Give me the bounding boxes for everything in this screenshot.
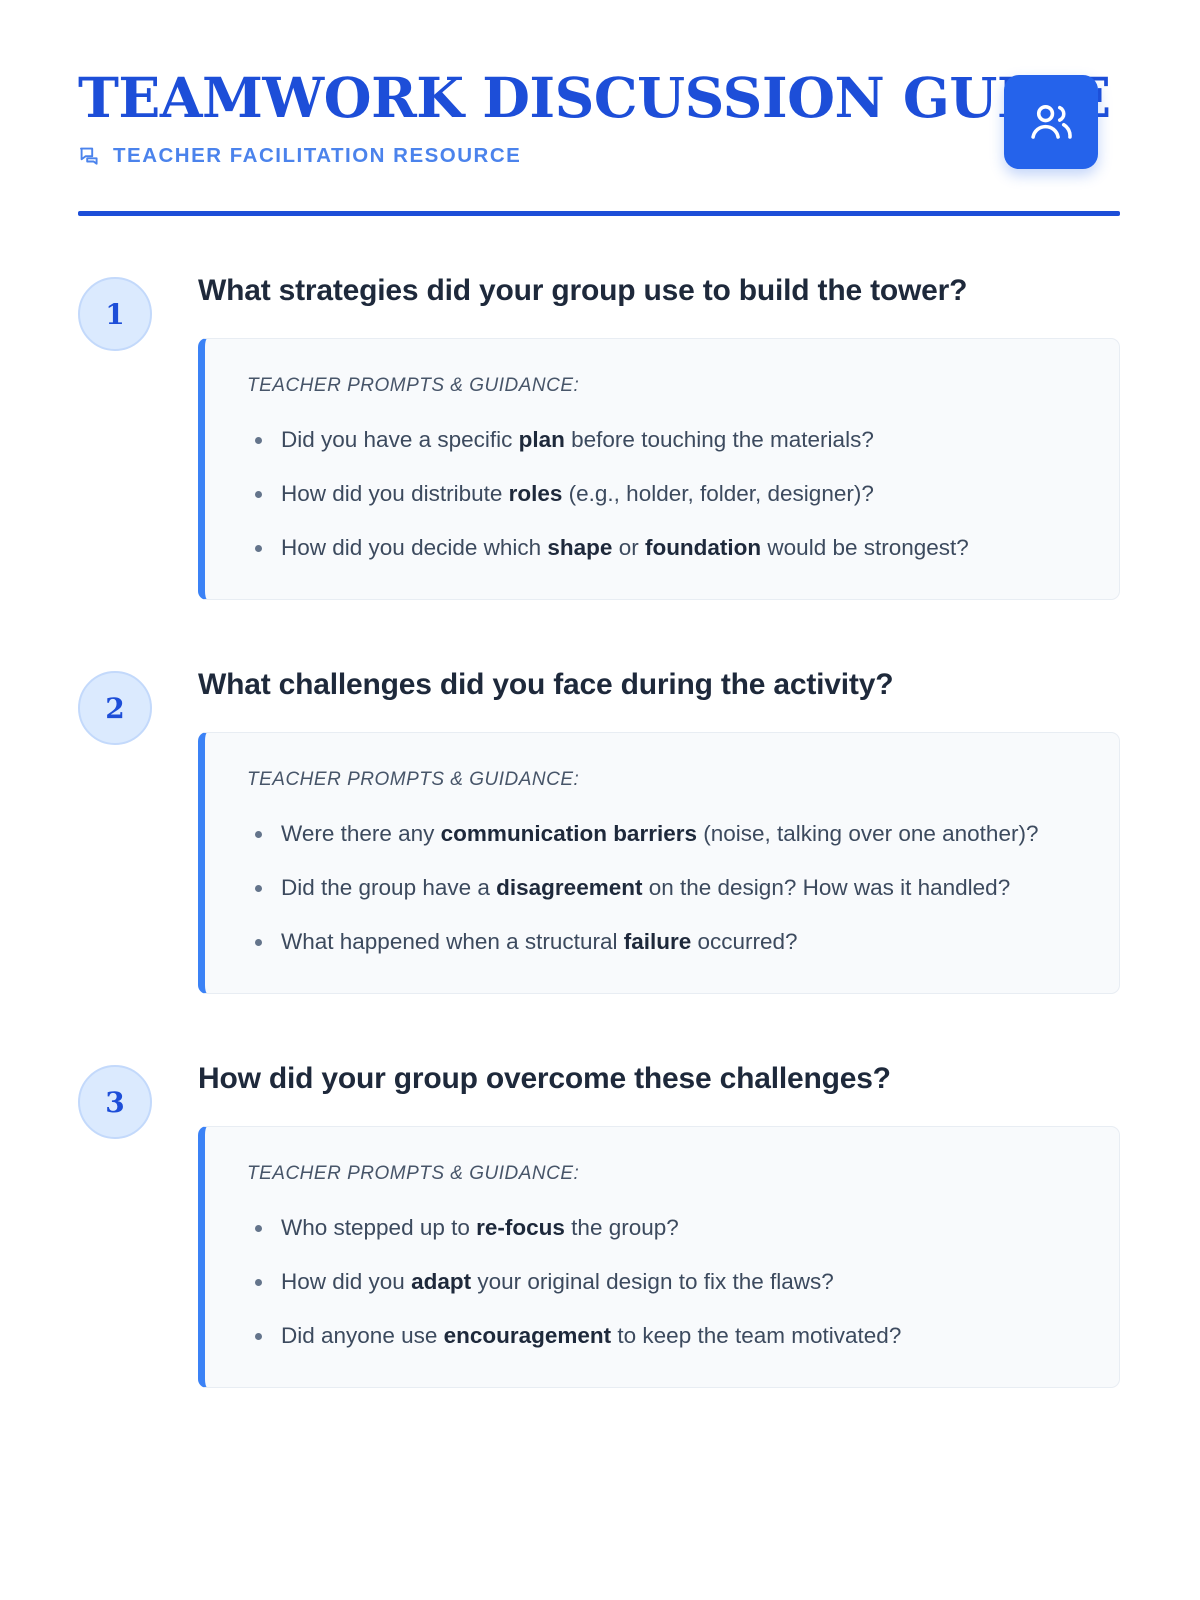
teacher-prompt-box: TEACHER PROMPTS & GUIDANCE: Who stepped … <box>198 1126 1120 1389</box>
page-header: TEAMWORK DISCUSSION GUIDE TEACHER FACILI… <box>0 0 1200 169</box>
prompt-bullet-list: Did you have a specific plan before touc… <box>247 423 1079 566</box>
teacher-prompt-box: TEACHER PROMPTS & GUIDANCE: Were there a… <box>198 732 1120 995</box>
discussion-guide-page: TEAMWORK DISCUSSION GUIDE TEACHER FACILI… <box>0 0 1200 1600</box>
teacher-prompt-box: TEACHER PROMPTS & GUIDANCE: Did you have… <box>198 338 1120 601</box>
prompt-item: How did you adapt your original design t… <box>247 1265 1079 1299</box>
page-title: TEAMWORK DISCUSSION GUIDE <box>78 70 1004 126</box>
prompt-item: Did the group have a disagreement on the… <box>247 871 1079 905</box>
subtitle-row: TEACHER FACILITATION RESOURCE <box>78 144 1004 168</box>
question-title: How did your group overcome these challe… <box>198 1060 1120 1098</box>
prompt-box-label: TEACHER PROMPTS & GUIDANCE: <box>247 1163 1079 1185</box>
question-body: How did your group overcome these challe… <box>198 1060 1120 1388</box>
prompt-box-label: TEACHER PROMPTS & GUIDANCE: <box>247 769 1079 791</box>
prompt-item: Were there any communication barriers (n… <box>247 817 1079 851</box>
questions-list: 1 What strategies did your group use to … <box>0 216 1200 1448</box>
prompt-item: How did you distribute roles (e.g., hold… <box>247 477 1079 511</box>
prompt-box-label: TEACHER PROMPTS & GUIDANCE: <box>247 375 1079 397</box>
question-number-badge: 1 <box>78 277 152 351</box>
prompt-item: Did you have a specific plan before touc… <box>247 423 1079 457</box>
question-block-3: 3 How did your group overcome these chal… <box>78 1060 1120 1388</box>
header-text-group: TEAMWORK DISCUSSION GUIDE TEACHER FACILI… <box>78 70 1004 168</box>
prompt-item: How did you decide which shape or founda… <box>247 531 1079 565</box>
prompt-bullet-list: Who stepped up to re-focus the group? Ho… <box>247 1211 1079 1354</box>
header-row: TEAMWORK DISCUSSION GUIDE TEACHER FACILI… <box>78 70 1120 169</box>
question-block-1: 1 What strategies did your group use to … <box>78 272 1120 600</box>
question-title: What challenges did you face during the … <box>198 666 1120 704</box>
question-block-2: 2 What challenges did you face during th… <box>78 666 1120 994</box>
page-subtitle: TEACHER FACILITATION RESOURCE <box>113 144 521 168</box>
question-number-badge: 3 <box>78 1065 152 1139</box>
prompt-item: What happened when a structural failure … <box>247 925 1079 959</box>
users-group-icon <box>1004 75 1098 169</box>
question-body: What strategies did your group use to bu… <box>198 272 1120 600</box>
prompt-item: Who stepped up to re-focus the group? <box>247 1211 1079 1245</box>
chat-bubbles-icon <box>78 144 102 168</box>
prompt-bullet-list: Were there any communication barriers (n… <box>247 817 1079 960</box>
question-body: What challenges did you face during the … <box>198 666 1120 994</box>
question-number-badge: 2 <box>78 671 152 745</box>
question-title: What strategies did your group use to bu… <box>198 272 1120 310</box>
prompt-item: Did anyone use encouragement to keep the… <box>247 1319 1079 1353</box>
